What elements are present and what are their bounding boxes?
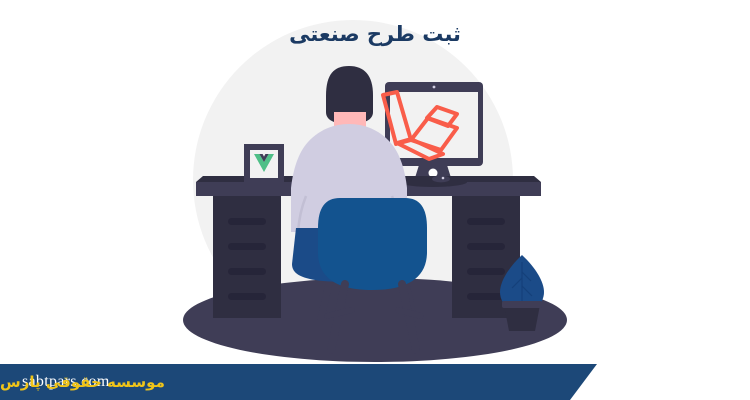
mouse-button-dot (442, 177, 445, 180)
desk-drawer-left-2 (228, 243, 266, 250)
mouse (432, 176, 450, 183)
desk-drawer-right-3 (467, 268, 505, 275)
monitor-camera-dot (433, 86, 436, 89)
desk-drawer-right-1 (467, 218, 505, 225)
illustration-scene (0, 0, 750, 400)
footer-brand-label: موسسه حقوقی پارس (0, 364, 566, 400)
desk-drawer-right-4 (467, 293, 505, 300)
picture-frame (244, 144, 284, 184)
plant-pot (504, 305, 540, 331)
screenshot-canvas: ثبت طرح صنعتی sabtpars.com موسسه حقوقی پ… (0, 0, 750, 400)
footer-bar: sabtpars.com موسسه حقوقی پارس (0, 364, 750, 400)
plant-pot-rim (502, 301, 542, 308)
desk-drawer-left-4 (228, 293, 266, 300)
desk-drawer-left-1 (228, 218, 266, 225)
desk-drawer-right-2 (467, 243, 505, 250)
chair-seat (318, 198, 427, 290)
desk-drawer-left-3 (228, 268, 266, 275)
